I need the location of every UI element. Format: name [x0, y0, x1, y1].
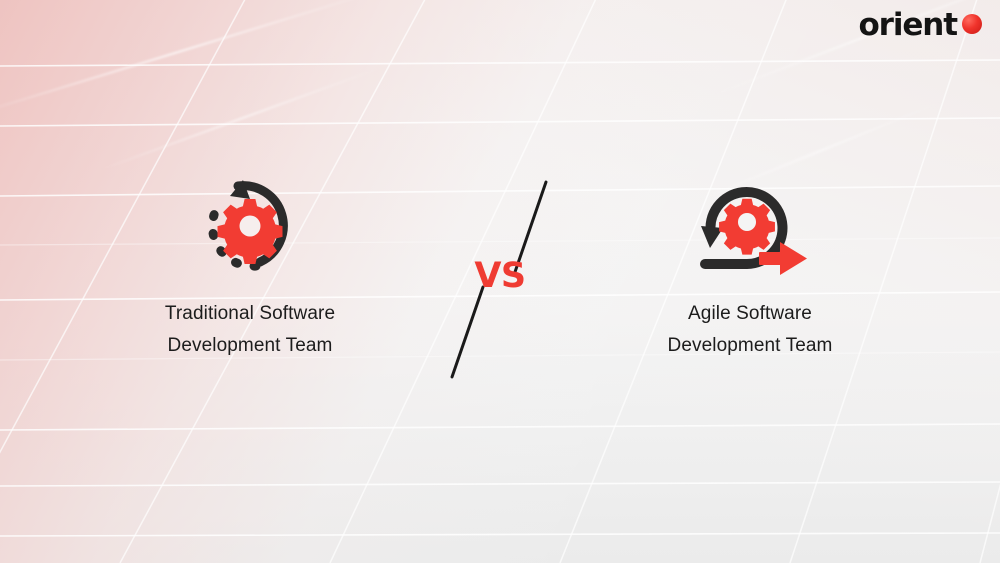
red-sphere-icon [962, 14, 982, 34]
brand-name: orient [858, 10, 957, 41]
light-streak [0, 0, 381, 117]
divider-line-bottom [450, 285, 485, 379]
caption-line-2: Development Team [668, 330, 833, 362]
vs-label: VS [474, 259, 525, 294]
caption-line-1: Agile Software [688, 303, 812, 324]
traditional-cycle-gear-icon [198, 170, 302, 282]
comparison-slide: orient [0, 0, 1000, 563]
comparison-left: Traditional Software Development Team [60, 170, 440, 362]
comparison-right: Agile Software Development Team [560, 170, 940, 362]
comparison-right-caption: Agile Software Development Team [668, 298, 833, 362]
comparison-left-caption: Traditional Software Development Team [165, 298, 335, 362]
brand-logo: orient [858, 10, 982, 41]
comparison-row: Traditional Software Development Team VS [0, 170, 1000, 385]
vs-divider: VS [440, 170, 560, 385]
light-streak [99, 67, 382, 171]
caption-line-2: Development Team [165, 330, 335, 362]
caption-line-1: Traditional Software [165, 303, 335, 324]
agile-sprint-gear-icon [685, 170, 815, 282]
